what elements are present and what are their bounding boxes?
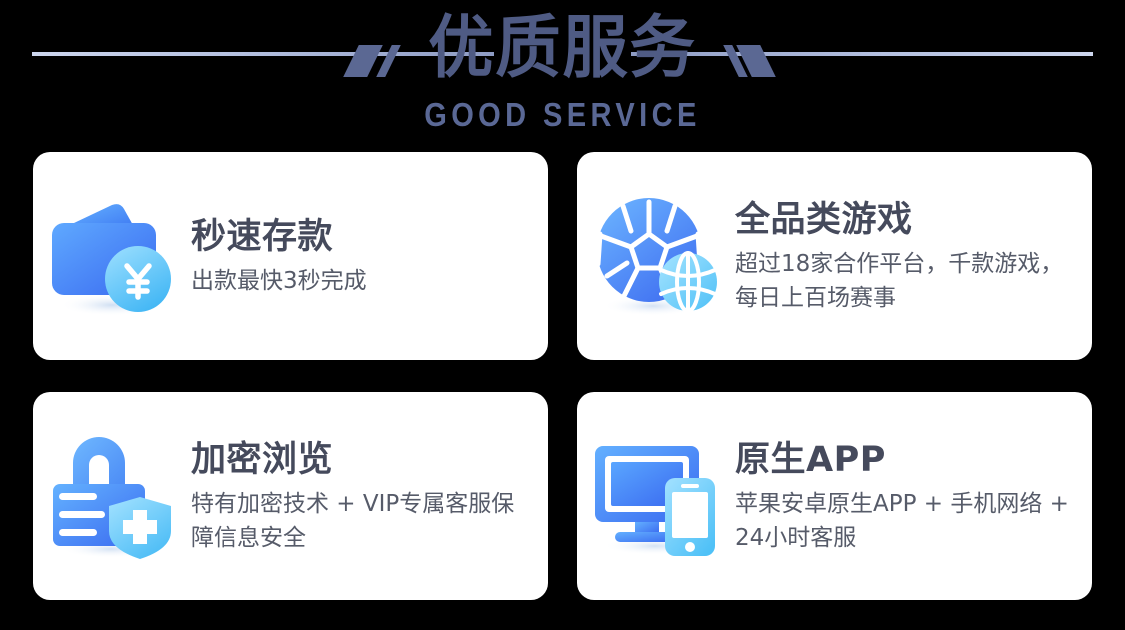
card-description: 出款最快3秒完成 [191, 264, 521, 298]
soccer-ball-icon [577, 152, 735, 360]
wallet-icon-svg [46, 193, 178, 319]
page-subtitle: GOOD SERVICE [68, 96, 1058, 134]
page-title: 优质服务 [23, 6, 1103, 92]
card-description: 苹果安卓原生APP + 手机网络 + 24小时客服 [735, 487, 1074, 555]
lock-shield-icon-svg [45, 431, 179, 561]
feature-card-grid: 秒速存款 出款最快3秒完成 [33, 152, 1092, 600]
feature-card-deposit[interactable]: 秒速存款 出款最快3秒完成 [33, 152, 548, 360]
monitor-phone-icon [577, 392, 735, 600]
banner-header: 优质服务 GOOD SERVICE [0, 0, 1125, 150]
feature-card-encryption-text: 加密浏览 特有加密技术 + VIP专属客服保障信息安全 [191, 438, 548, 555]
feature-card-native-app[interactable]: 原生APP 苹果安卓原生APP + 手机网络 + 24小时客服 [577, 392, 1092, 600]
lock-shield-icon [33, 392, 191, 600]
wallet-icon [33, 152, 191, 360]
soccer-ball-icon-svg [587, 190, 725, 322]
feature-card-games[interactable]: 全品类游戏 超过18家合作平台，千款游戏，每日上百场赛事 [577, 152, 1092, 360]
card-title: 秒速存款 [191, 215, 530, 259]
feature-card-native-app-text: 原生APP 苹果安卓原生APP + 手机网络 + 24小时客服 [735, 438, 1092, 555]
monitor-phone-icon-svg [589, 434, 723, 558]
card-title: 全品类游戏 [735, 198, 1074, 242]
feature-card-games-text: 全品类游戏 超过18家合作平台，千款游戏，每日上百场赛事 [735, 198, 1092, 315]
card-title: 原生APP [735, 438, 1074, 482]
promo-banner: 优质服务 GOOD SERVICE [0, 0, 1125, 630]
card-title: 加密浏览 [191, 438, 530, 482]
feature-card-deposit-text: 秒速存款 出款最快3秒完成 [191, 215, 548, 298]
feature-card-encryption[interactable]: 加密浏览 特有加密技术 + VIP专属客服保障信息安全 [33, 392, 548, 600]
card-description: 特有加密技术 + VIP专属客服保障信息安全 [191, 487, 530, 555]
card-description: 超过18家合作平台，千款游戏，每日上百场赛事 [735, 247, 1074, 315]
